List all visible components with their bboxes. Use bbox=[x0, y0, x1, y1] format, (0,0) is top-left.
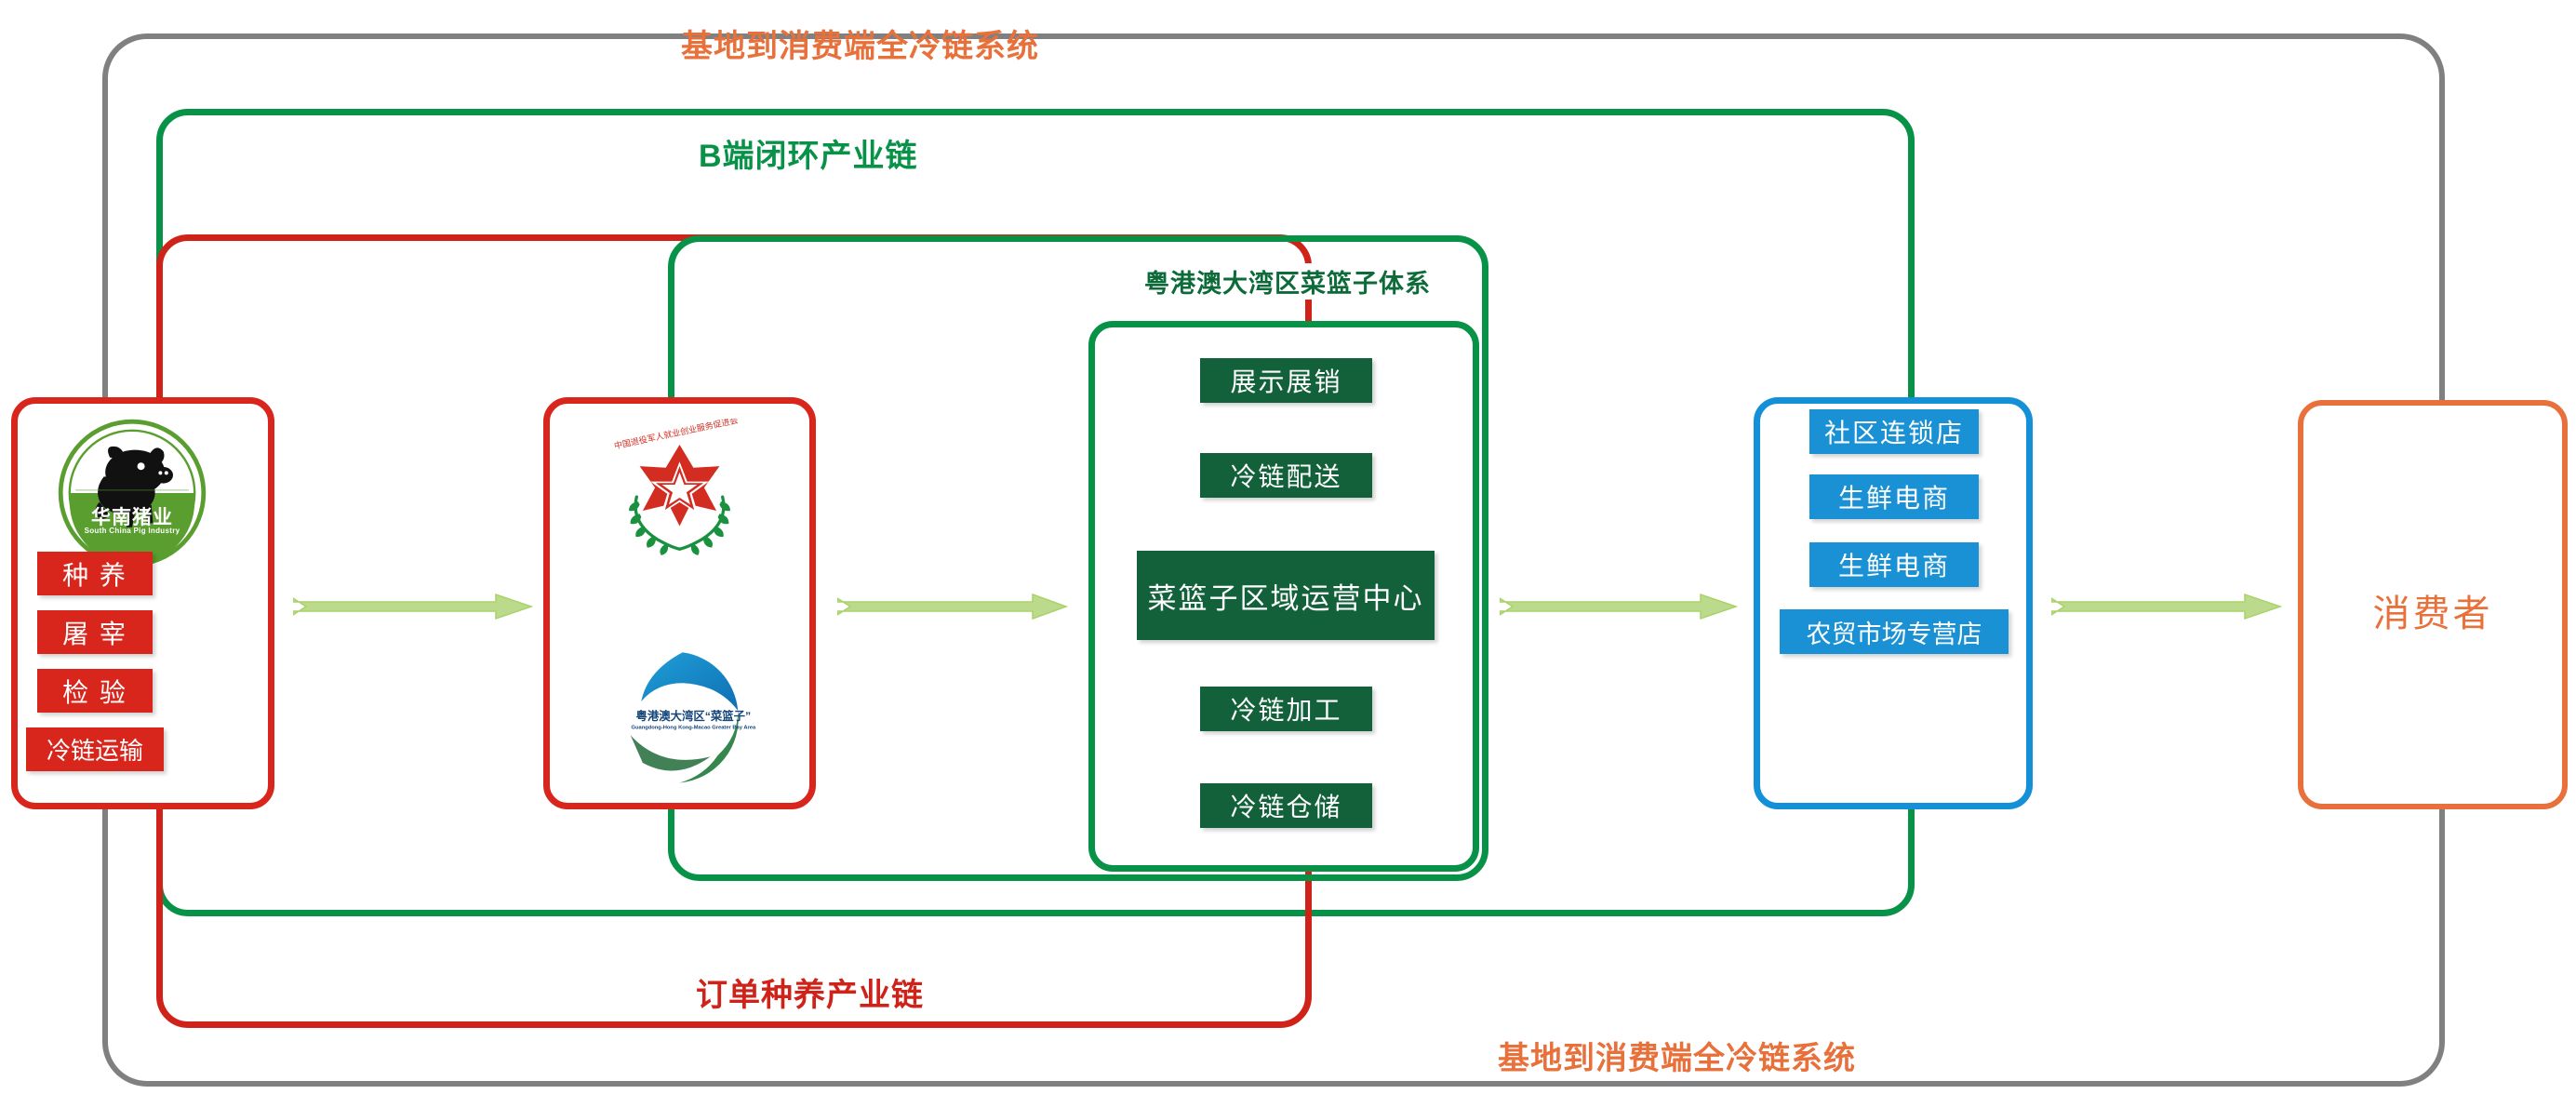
svg-text:Guangdong-Hong Kong-Macao Grea: Guangdong-Hong Kong-Macao Greater Bay Ar… bbox=[631, 726, 755, 731]
arrow-base-to-certification bbox=[293, 590, 535, 623]
chip-fresh-ecommerce-1[interactable]: 生鲜电商 bbox=[1809, 474, 1979, 519]
svg-text:中国退役军人就业创业服务促进会: 中国退役军人就业创业服务促进会 bbox=[613, 419, 739, 451]
consumer-label: 消费者 bbox=[2298, 583, 2568, 637]
stage-retail-channels[interactable] bbox=[1754, 397, 2033, 809]
svg-text:粤港澳大湾区“菜篮子”: 粤港澳大湾区“菜篮子” bbox=[636, 709, 752, 723]
chip-farmers-market-store[interactable]: 农贸市场专营店 bbox=[1780, 609, 2009, 654]
chip-inspection[interactable]: 检 验 bbox=[37, 669, 153, 713]
chip-basket-regional-operation-center[interactable]: 菜篮子区域运营中心 bbox=[1137, 551, 1435, 640]
chip-cold-chain-transport[interactable]: 冷链运输 bbox=[26, 727, 164, 771]
chip-cold-chain-delivery[interactable]: 冷链配送 bbox=[1200, 453, 1372, 498]
caption-b-end-chain: B端闭环产业链 bbox=[684, 130, 933, 176]
chip-cold-chain-storage[interactable]: 冷链仓储 bbox=[1200, 783, 1372, 828]
caption-basket-system-title: 粤港澳大湾区菜篮子体系 bbox=[1133, 263, 1442, 300]
south-china-pig-industry-logo bbox=[58, 419, 207, 567]
china-veterans-employment-association-logo: 中国退役军人就业创业服务促进会 bbox=[603, 419, 756, 572]
arrow-basket-to-retail bbox=[1500, 590, 1740, 623]
greater-bay-area-vegetable-basket-logo: 粤港澳大湾区“菜篮子” Guangdong-Hong Kong-Macao Gr… bbox=[603, 640, 756, 794]
chip-community-chain-store[interactable]: 社区连锁店 bbox=[1809, 409, 1979, 454]
chip-cold-chain-processing[interactable]: 冷链加工 bbox=[1200, 687, 1372, 731]
diagram-canvas: 基地到消费端全冷链系统 B端闭环产业链 粤港澳大湾区菜篮子体系 订单种养产业链 … bbox=[0, 0, 2576, 1094]
chip-exhibition-sales[interactable]: 展示展销 bbox=[1200, 358, 1372, 403]
caption-order-farming-chain: 订单种养产业链 bbox=[681, 969, 939, 1015]
arrow-retail-to-consumer bbox=[2051, 590, 2284, 623]
chip-slaughter[interactable]: 屠 宰 bbox=[37, 610, 153, 654]
caption-cold-chain-top: 基地到消费端全冷链系统 bbox=[681, 20, 1039, 66]
arrow-certification-to-basket bbox=[837, 590, 1070, 623]
chip-breeding[interactable]: 种 养 bbox=[37, 552, 153, 595]
caption-cold-chain-bottom: 基地到消费端全冷链系统 bbox=[1498, 1033, 1856, 1078]
chip-fresh-ecommerce-2[interactable]: 生鲜电商 bbox=[1809, 542, 1979, 587]
